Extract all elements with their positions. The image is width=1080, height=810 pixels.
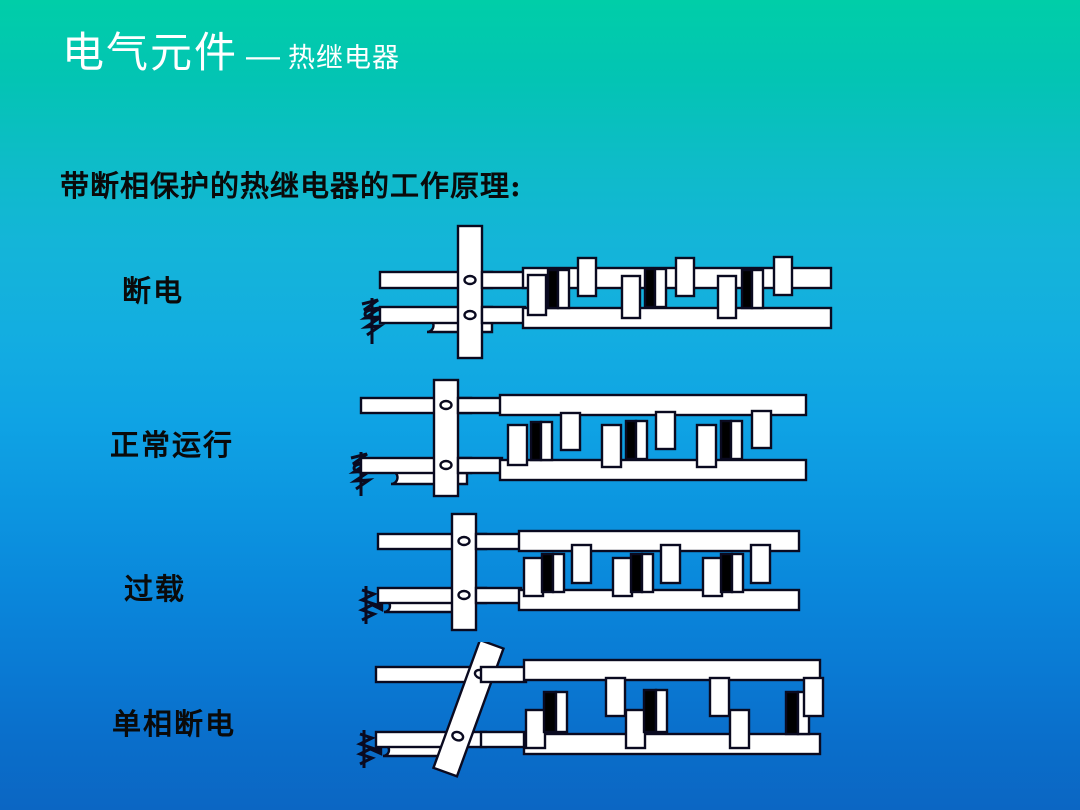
title-sub-text: 热继电器 — [288, 43, 400, 74]
bimetal-strip — [710, 678, 729, 716]
pivot-hole-upper — [459, 537, 470, 545]
upper-slide-bar — [481, 667, 526, 682]
bimetal-strip — [542, 554, 564, 592]
bimetal-strip — [524, 558, 543, 596]
bimetal-strip — [656, 412, 675, 449]
title-main-text: 电气元件 — [62, 28, 238, 77]
row-label-single-phase-break: 单相断电 — [112, 701, 236, 743]
lower-slide-bar-main — [523, 308, 831, 328]
bimetal-strip — [561, 413, 580, 450]
upper-slide-bar — [476, 534, 521, 549]
bimetal-strip — [645, 269, 666, 307]
bimetal-strip — [572, 545, 591, 583]
subtitle-text: 带断相保护的热继电器的工作原理: — [60, 163, 522, 205]
pivot-hole-lower — [459, 591, 470, 599]
bimetal-strip — [626, 421, 647, 459]
return-spring — [362, 586, 374, 624]
bimetal-strip — [774, 257, 792, 295]
bimetal-strip — [730, 710, 749, 748]
diagram-normal-operation — [335, 378, 835, 503]
upper-slide-bar — [482, 272, 525, 288]
slide-canvas: 电气元件—热继电器 带断相保护的热继电器的工作原理: 断电 正常运行 过载 单相… — [0, 0, 1080, 810]
bimetal-strip — [613, 558, 632, 596]
bimetal-strip — [631, 554, 653, 592]
lower-slide-bar — [482, 307, 525, 323]
bimetal-strip — [721, 554, 743, 592]
lower-slide-bar-main — [524, 734, 820, 754]
bimetal-strip — [703, 558, 722, 596]
pivot-lever — [458, 226, 482, 358]
diagram-power-off — [350, 222, 860, 362]
return-spring — [360, 730, 372, 768]
bimetal-strip — [676, 258, 694, 296]
bimetal-strip — [661, 545, 680, 583]
diagram-overload — [348, 512, 818, 637]
upper-slide-bar — [458, 398, 502, 413]
bimetal-strip — [508, 425, 527, 465]
bimetal-strip — [606, 678, 625, 716]
bimetal-strip — [721, 421, 742, 459]
page-title: 电气元件—热继电器 — [62, 32, 400, 74]
bimetal-strip — [526, 710, 545, 748]
row-label-normal-operation: 正常运行 — [110, 422, 234, 464]
bimetal-strip — [752, 411, 771, 448]
bimetal-strip — [718, 276, 736, 318]
pivot-lever-tilted — [433, 642, 503, 776]
bimetal-strip — [548, 270, 569, 308]
bimetal-strip — [697, 425, 716, 467]
bimetal-strip — [622, 276, 640, 318]
bimetal-strip — [742, 270, 763, 308]
pivot-lever — [452, 514, 476, 630]
upper-slide-bar-main — [524, 660, 820, 680]
pivot-lever — [434, 380, 458, 496]
bimetal-strip — [531, 422, 552, 460]
bimetal-strip — [804, 678, 823, 716]
pivot-hole-upper — [465, 276, 476, 284]
title-dash: — — [238, 37, 288, 75]
bimetal-strip — [544, 692, 567, 732]
bimetal-strip — [602, 425, 621, 467]
pivot-hole-lower — [465, 311, 476, 319]
pivot-hole-lower — [441, 461, 452, 469]
pivot-lever — [433, 642, 503, 776]
row-label-overload: 过载 — [124, 566, 186, 608]
bimetal-strip — [578, 258, 596, 296]
lower-slide-bar — [476, 588, 521, 603]
bimetal-strip — [626, 710, 645, 748]
bimetal-strip — [528, 275, 546, 315]
lower-slide-bar-main — [500, 460, 806, 480]
pivot-hole-upper — [441, 401, 452, 409]
lower-slide-bar — [481, 732, 526, 747]
row-label-power-off: 断电 — [122, 268, 184, 310]
bimetal-strip — [644, 690, 667, 732]
lower-slide-bar — [458, 458, 502, 473]
diagram-single-phase-break — [348, 642, 848, 782]
bimetal-strip — [751, 545, 770, 583]
